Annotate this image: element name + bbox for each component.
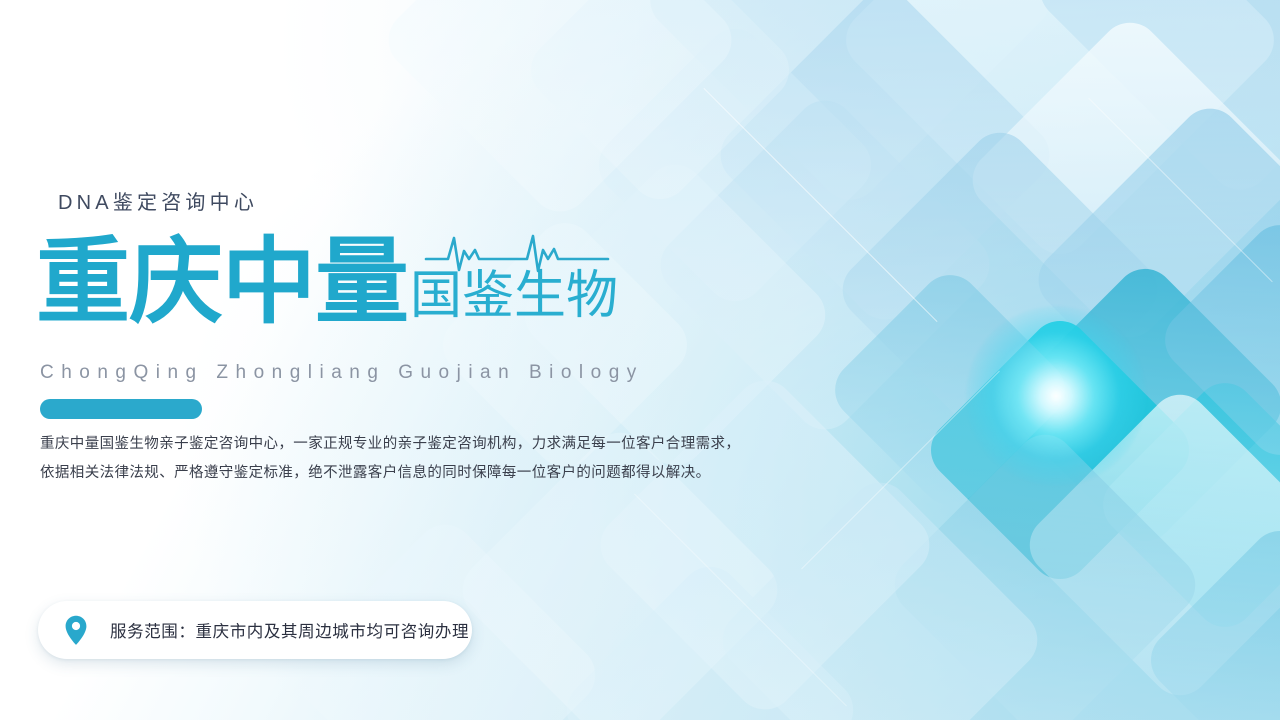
description-line-2: 依据相关法律法规、严格遵守鉴定标准，绝不泄露客户信息的同时保障每一位客户的问题都… <box>40 459 690 488</box>
accent-bar <box>40 399 202 419</box>
service-scope-pill[interactable]: 服务范围：重庆市内及其周边城市均可咨询办理 <box>38 601 472 659</box>
poster-canvas: DNA鉴定咨询中心 重庆中量 国鉴生物 ChongQing Zhongliang… <box>0 0 1280 720</box>
eyebrow-text: DNA鉴定咨询中心 <box>58 186 258 215</box>
map-pin-icon <box>64 615 88 645</box>
heartbeat-line-icon <box>424 226 610 278</box>
description-paragraph: 重庆中量国鉴生物亲子鉴定咨询中心，一家正规专业的亲子鉴定咨询机构，力求满足每一位… <box>40 430 690 488</box>
brand-title-sub: 国鉴生物 <box>410 270 618 328</box>
brand-pinyin: ChongQing Zhongliang Guojian Biology <box>40 362 644 384</box>
description-line-1: 重庆中量国鉴生物亲子鉴定咨询中心，一家正规专业的亲子鉴定咨询机构，力求满足每一位… <box>40 430 690 459</box>
service-scope-text: 服务范围：重庆市内及其周边城市均可咨询办理 <box>110 618 469 642</box>
brand-title-main: 重庆中量 <box>36 238 408 328</box>
